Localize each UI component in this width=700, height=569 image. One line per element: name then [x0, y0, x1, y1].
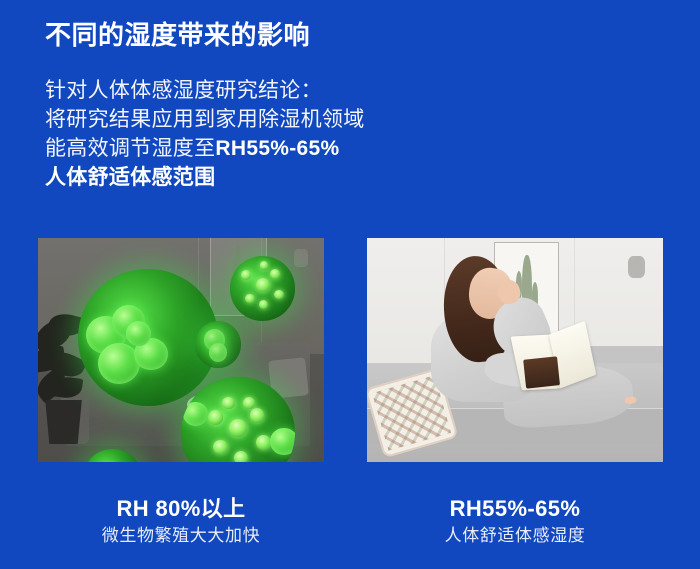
- microbe-spore: [126, 321, 151, 346]
- copy-line-3-prefix: 能高效调节湿度至: [45, 137, 215, 160]
- microbe-virus-floating: [230, 256, 296, 321]
- virus-nub: [260, 261, 269, 269]
- microbe-cluster-edge: [195, 321, 241, 368]
- image-panel-high-humidity: [38, 238, 324, 462]
- copy-line-3: 能高效调节湿度至RH55%-65%: [45, 134, 365, 163]
- virus-nub: [259, 300, 268, 309]
- virus-nub: [270, 269, 280, 279]
- microbe-cluster-small: [84, 449, 141, 462]
- virus-nub: [213, 440, 228, 455]
- copy-line-1: 针对人体体感湿度研究结论：: [45, 76, 365, 105]
- caption-sub-comfort-humidity: 人体舒适体感湿度: [367, 523, 663, 549]
- dim-room-scene: [38, 238, 324, 462]
- copy-line-3-rh-range: RH55%-65%: [215, 137, 339, 160]
- virus-nub: [222, 397, 235, 409]
- copy-line-4: 人体舒适体感范围: [45, 163, 365, 192]
- virus-nub: [256, 435, 271, 450]
- caption-main-high-humidity: RH 80%以上: [38, 495, 324, 523]
- virus-nub: [208, 410, 223, 425]
- microbe-spore: [209, 343, 227, 362]
- virus-nub: [234, 451, 249, 462]
- virus-nub: [229, 419, 247, 437]
- body-copy-block: 针对人体体感湿度研究结论： 将研究结果应用到家用除湿机领域 能高效调节湿度至RH…: [45, 76, 365, 192]
- plant-pot: [43, 400, 85, 444]
- copy-line-2: 将研究结果应用到家用除湿机领域: [45, 105, 365, 134]
- dim-wall-thermostat: [294, 249, 308, 267]
- virus-nub: [256, 278, 270, 292]
- caption-main-comfort-humidity: RH55%-65%: [367, 495, 663, 523]
- microbe-spore: [98, 343, 140, 384]
- virus-nub: [241, 270, 251, 280]
- microbe-spore: [183, 402, 208, 427]
- caption-comfort-humidity: RH55%-65% 人体舒适体感湿度: [367, 495, 663, 549]
- caption-high-humidity: RH 80%以上 微生物繁殖大大加快: [38, 495, 324, 549]
- book-spine: [524, 356, 560, 388]
- woman-reading: [408, 256, 633, 453]
- humidity-infographic-poster: 不同的湿度带来的影响 针对人体体感湿度研究结论： 将研究结果应用到家用除湿机领域…: [0, 0, 700, 569]
- image-panel-comfort-humidity: [367, 238, 663, 462]
- virus-nub: [274, 290, 284, 300]
- bright-room-scene: [367, 238, 663, 462]
- caption-sub-high-humidity: 微生物繁殖大大加快: [38, 523, 324, 549]
- page-title: 不同的湿度带来的影响: [45, 18, 310, 52]
- virus-nub: [245, 294, 255, 304]
- microbe-spore: [270, 428, 295, 455]
- virus-nub: [250, 408, 265, 423]
